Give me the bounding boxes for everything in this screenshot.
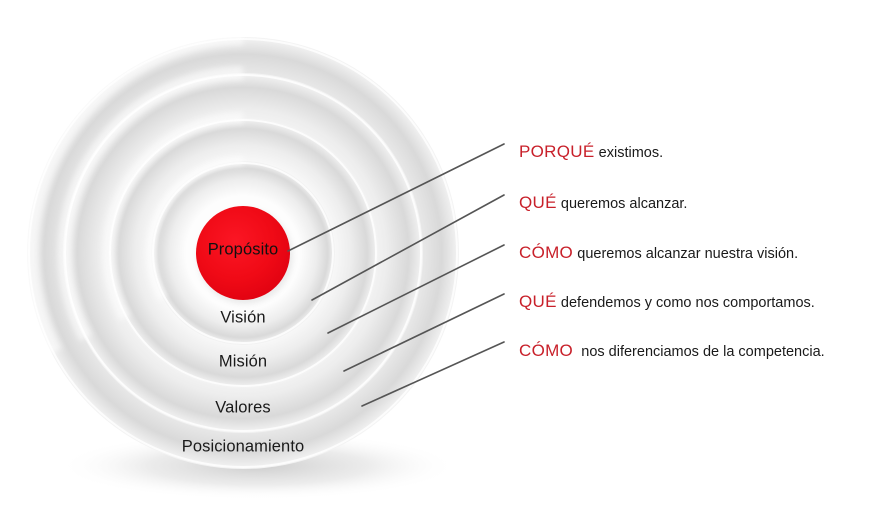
callout-keyword-que-vision: QUÉ: [519, 193, 557, 212]
callout-proposito: PORQUÉ existimos.: [519, 143, 663, 161]
diagram-canvas: Propósito Visión Misión Valores Posicion…: [0, 0, 884, 506]
callout-keyword-porque: PORQUÉ: [519, 142, 594, 161]
callout-text-mision: queremos alcanzar nuestra visión.: [577, 246, 798, 262]
callout-mision: CÓMO queremos alcanzar nuestra visión.: [519, 244, 798, 262]
callout-vision: QUÉ queremos alcanzar.: [519, 194, 687, 212]
callout-text-valores: defendemos y como nos comportamos.: [561, 295, 815, 311]
callout-valores: QUÉ defendemos y como nos comportamos.: [519, 293, 815, 311]
callout-keyword-como-mision: CÓMO: [519, 243, 573, 262]
callout-text-posicionamiento: nos diferenciamos de la competencia.: [581, 344, 824, 360]
callout-keyword-como-posicionamiento: CÓMO: [519, 341, 573, 360]
callout-keyword-que-valores: QUÉ: [519, 292, 557, 311]
callout-posicionamiento: CÓMO nos diferenciamos de la competencia…: [519, 342, 825, 360]
callout-text-proposito: existimos.: [599, 145, 663, 161]
callout-text-vision: queremos alcanzar.: [561, 196, 688, 212]
